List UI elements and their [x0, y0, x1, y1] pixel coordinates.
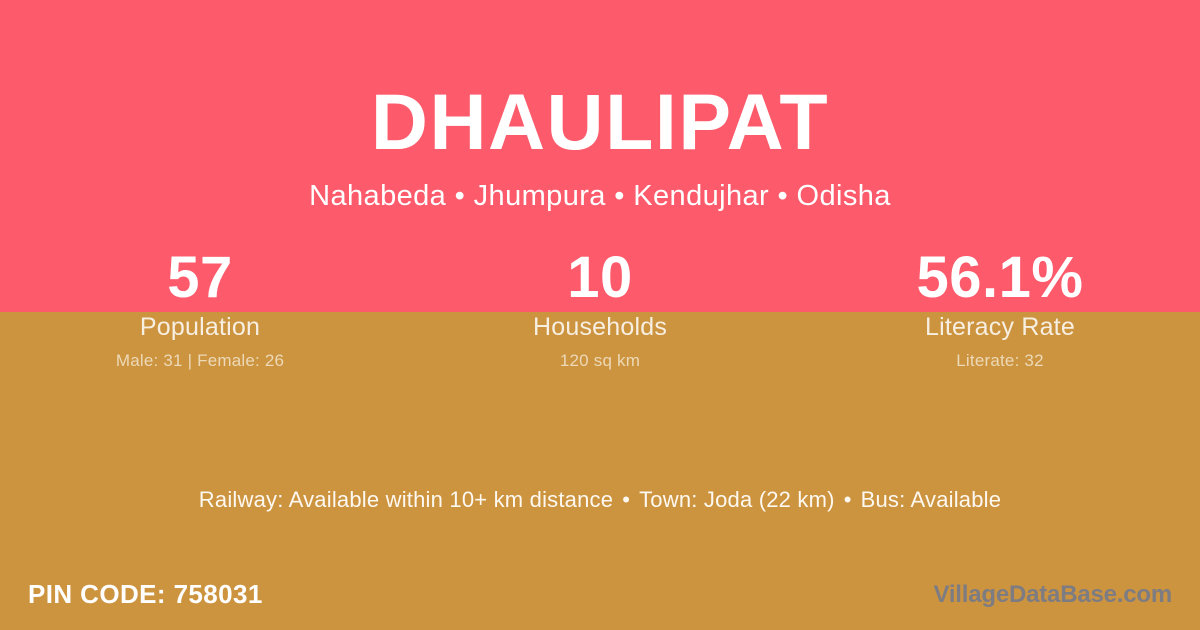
- infrastructure-town: Town: Joda (22 km): [639, 487, 835, 512]
- infrastructure-line: Railway: Available within 10+ km distanc…: [0, 485, 1200, 515]
- stat-label-households: Households: [400, 313, 800, 342]
- stat-label-population: Population: [0, 313, 400, 342]
- breadcrumb: Nahabeda • Jhumpura • Kendujhar • Odisha: [0, 182, 1200, 211]
- stat-value-literacy-rate: 56.1%: [800, 246, 1200, 310]
- brand-watermark: VillageDataBase.com: [933, 580, 1172, 610]
- stat-sub-population: Male: 31 | Female: 26: [0, 351, 400, 371]
- infrastructure-separator-2: •: [835, 487, 861, 512]
- stat-literacy-rate: 56.1% Literacy Rate Literate: 32: [800, 246, 1200, 371]
- stat-value-households: 10: [400, 246, 800, 310]
- stat-households: 10 Households 120 sq km: [400, 246, 800, 371]
- stat-sub-households: 120 sq km: [400, 351, 800, 371]
- pin-code: PIN CODE: 758031: [28, 578, 263, 610]
- infrastructure-bus: Bus: Available: [861, 487, 1002, 512]
- page-title: DHAULIPAT: [0, 82, 1200, 161]
- infrastructure-railway: Railway: Available within 10+ km distanc…: [199, 487, 613, 512]
- stat-population: 57 Population Male: 31 | Female: 26: [0, 246, 400, 371]
- stat-value-population: 57: [0, 246, 400, 310]
- village-info-card: DHAULIPAT Nahabeda • Jhumpura • Kendujha…: [0, 0, 1200, 630]
- stat-sub-literacy-rate: Literate: 32: [800, 351, 1200, 371]
- card-footer: PIN CODE: 758031 VillageDataBase.com: [0, 566, 1200, 630]
- stats-row: 57 Population Male: 31 | Female: 26 10 H…: [0, 246, 1200, 371]
- infrastructure-separator-1: •: [613, 487, 639, 512]
- stat-label-literacy-rate: Literacy Rate: [800, 313, 1200, 342]
